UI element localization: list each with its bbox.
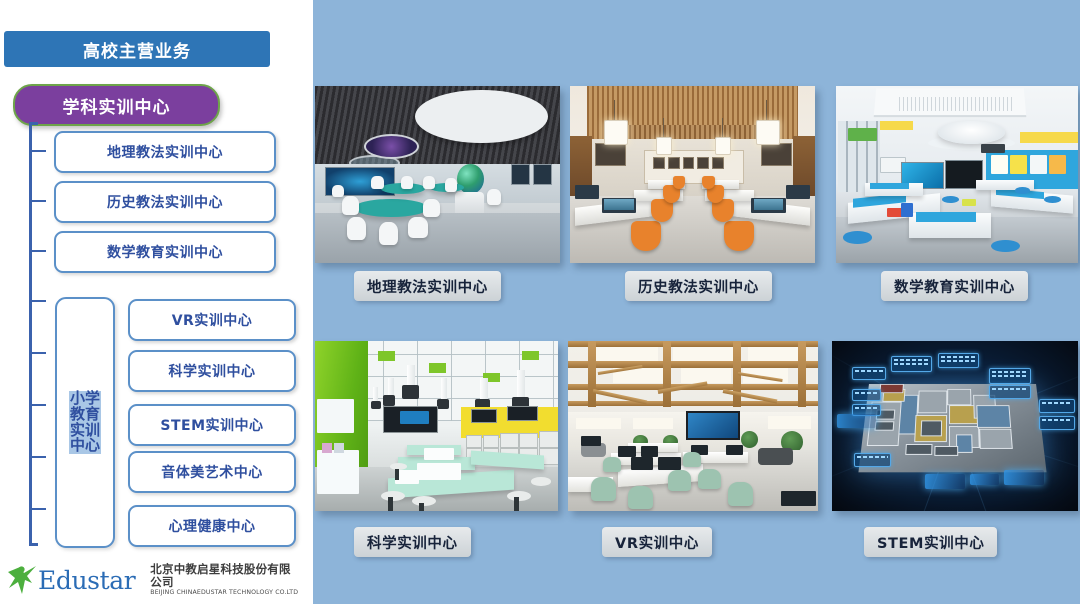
gallery-caption-geography-lab: 地理教法实训中心 <box>354 271 501 301</box>
tree-trunk-cap-bottom <box>29 543 38 546</box>
gallery-photo-stem-lab[interactable] <box>832 341 1078 511</box>
tree-branch-tick <box>32 250 46 252</box>
tree-node-label: 历史教法实训中心 <box>107 192 223 212</box>
photo-scene-math-lab <box>836 86 1078 263</box>
tree-group-label: 小学 教育 实训 中心 <box>69 391 101 455</box>
gallery-photo-geography-lab[interactable] <box>315 86 560 263</box>
gallery-photo-science-lab[interactable] <box>315 341 558 511</box>
tree-node-label: STEM实训中心 <box>160 415 263 435</box>
caption-text: 数学教育实训中心 <box>894 276 1015 297</box>
tree-branch-tick <box>32 150 46 152</box>
tree-branch-tick <box>32 404 46 406</box>
caption-text: STEM实训中心 <box>877 532 984 553</box>
panel-title: 高校主营业务 <box>83 37 191 62</box>
tree-group-primary-education[interactable]: 小学 教育 实训 中心 <box>55 297 115 548</box>
slide-root: 高校主营业务 学科实训中心 地理教法实训中心 历史教法实训中心 数学教育实训中心 <box>0 0 1080 604</box>
photo-scene-science-lab <box>315 341 558 511</box>
left-diagram-panel: 高校主营业务 学科实训中心 地理教法实训中心 历史教法实训中心 数学教育实训中心 <box>0 0 313 604</box>
logo-company-en: BEIJING CHINAEDUSTAR TECHNOLOGY CO.LTD <box>150 589 298 597</box>
caption-text: 历史教法实训中心 <box>638 276 759 297</box>
tree-node-label: 科学实训中心 <box>169 361 256 381</box>
gallery-caption-math-lab: 数学教育实训中心 <box>881 271 1028 301</box>
tree-node-arts[interactable]: 音体美艺术中心 <box>128 451 296 493</box>
tree-group-label-line: 中心 <box>69 438 101 454</box>
tree-node-label: VR实训中心 <box>172 310 253 330</box>
tree-trunk-cap-top <box>29 122 38 125</box>
photo-scene-geography-lab <box>315 86 560 263</box>
tree-branch-tick <box>32 300 46 302</box>
photo-scene-history-lab <box>570 86 815 263</box>
caption-text: VR实训中心 <box>615 532 699 553</box>
tree-node-mental-health[interactable]: 心理健康中心 <box>128 505 296 547</box>
tree-branch-tick <box>32 200 46 202</box>
gallery-caption-vr-lab: VR实训中心 <box>602 527 712 557</box>
gallery-caption-stem-lab: STEM实训中心 <box>864 527 997 557</box>
gallery-photo-math-lab[interactable] <box>836 86 1078 263</box>
gallery-caption-history-lab: 历史教法实训中心 <box>625 271 772 301</box>
panel-header-bar: 高校主营业务 <box>4 31 270 67</box>
tree-node-history[interactable]: 历史教法实训中心 <box>54 181 276 223</box>
tree-branch-tick <box>32 456 46 458</box>
root-node-label: 学科实训中心 <box>63 93 171 118</box>
tree-node-label: 心理健康中心 <box>169 516 256 536</box>
right-gallery-panel: 地理教法实训中心 <box>313 0 1080 604</box>
running-star-icon <box>6 563 40 597</box>
tree-node-vr[interactable]: VR实训中心 <box>128 299 296 341</box>
gallery-photo-vr-lab[interactable] <box>568 341 818 511</box>
tree-branch-tick <box>32 352 46 354</box>
caption-text: 地理教法实训中心 <box>367 276 488 297</box>
tree-branch-tick <box>32 508 46 510</box>
company-logo: Edustar 北京中教启星科技股份有限公司 BEIJING CHINAEDUS… <box>6 560 268 600</box>
tree-node-label: 数学教育实训中心 <box>107 242 223 262</box>
tree-node-math[interactable]: 数学教育实训中心 <box>54 231 276 273</box>
tree-node-geography[interactable]: 地理教法实训中心 <box>54 131 276 173</box>
logo-company-block: 北京中教启星科技股份有限公司 BEIJING CHINAEDUSTAR TECH… <box>150 563 298 597</box>
logo-wordmark: Edustar <box>38 568 135 593</box>
tree-node-label: 地理教法实训中心 <box>107 142 223 162</box>
photo-scene-vr-lab <box>568 341 818 511</box>
tree-node-stem[interactable]: STEM实训中心 <box>128 404 296 446</box>
gallery-caption-science-lab: 科学实训中心 <box>354 527 471 557</box>
gallery-photo-history-lab[interactable] <box>570 86 815 263</box>
caption-text: 科学实训中心 <box>367 532 458 553</box>
root-node-badge[interactable]: 学科实训中心 <box>13 84 220 126</box>
photo-scene-stem-lab <box>832 341 1078 511</box>
tree-trunk-line <box>29 122 32 546</box>
tree-node-label: 音体美艺术中心 <box>161 462 263 482</box>
logo-company-cn: 北京中教启星科技股份有限公司 <box>150 563 298 589</box>
tree-node-science[interactable]: 科学实训中心 <box>128 350 296 392</box>
